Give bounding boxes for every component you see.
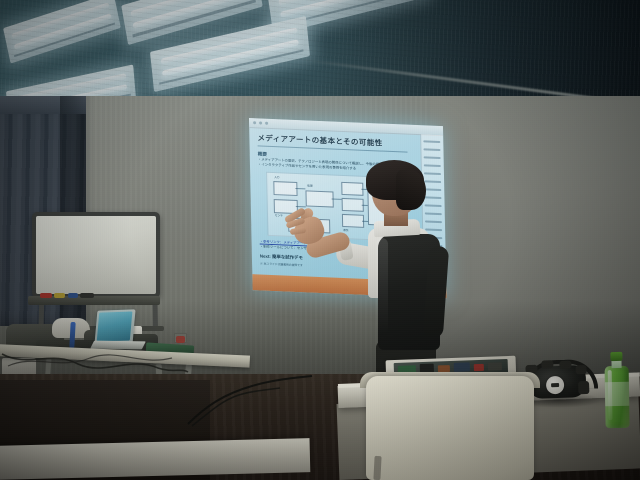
cable-bundle bbox=[0, 348, 190, 376]
fluorescent-troffer-icon bbox=[267, 0, 428, 35]
whiteboard bbox=[32, 212, 160, 298]
bottle-neck bbox=[611, 360, 621, 368]
electronic-component bbox=[474, 364, 484, 371]
back-table-laptop[interactable] bbox=[94, 309, 135, 344]
whiteboard-surface bbox=[36, 216, 156, 294]
chair-leg bbox=[373, 456, 381, 480]
marker-yellow bbox=[54, 293, 65, 298]
green-tea-bottle bbox=[603, 352, 630, 428]
fluorescent-troffer-icon bbox=[3, 0, 121, 64]
marker-blue bbox=[68, 293, 78, 298]
bottle-highlight bbox=[608, 370, 613, 420]
slide-title: メディアアートの基本とその可能性 bbox=[257, 132, 417, 150]
robot-module bbox=[559, 361, 571, 369]
marker-red bbox=[40, 293, 52, 298]
fluorescent-troffer-icon bbox=[121, 0, 263, 45]
presenter-hair-back bbox=[396, 170, 426, 210]
electronic-component bbox=[454, 362, 470, 372]
presenter-vest-edge bbox=[376, 238, 388, 334]
red-component bbox=[176, 336, 185, 343]
robot-module bbox=[575, 365, 586, 374]
electronic-component bbox=[488, 362, 502, 370]
marker-black bbox=[80, 293, 94, 298]
diagram-node-label: センサ bbox=[275, 213, 283, 217]
diagram-node-label: 入力 bbox=[274, 175, 279, 179]
photo-scene: メディアアートの基本とその可能性 概要 ・メディアアートの歴史、テクノロジーと表… bbox=[0, 0, 640, 480]
robot-module bbox=[541, 360, 553, 368]
robot-module bbox=[578, 381, 589, 394]
laptop-screen bbox=[97, 311, 133, 341]
bottle-cap bbox=[610, 352, 622, 361]
fluorescent-troffer-icon bbox=[150, 16, 310, 92]
chair-back[interactable] bbox=[366, 376, 534, 480]
